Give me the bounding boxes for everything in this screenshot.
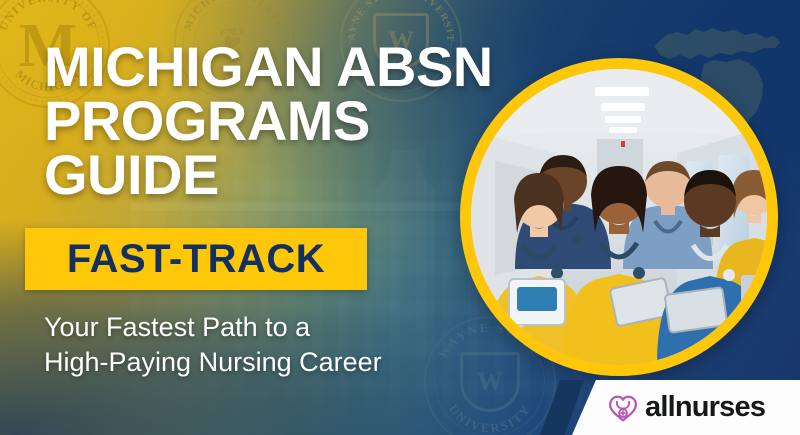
subtitle-line-2: High-Paying Nursing Career [44,345,484,380]
fast-track-badge: FAST-TRACK [25,228,367,290]
headline-line-1: MICHIGAN ABSN [44,40,514,94]
fast-track-badge-label: FAST-TRACK [67,239,325,279]
allnurses-logo-panel: allnurses [572,380,800,435]
allnurses-logo: allnurses [608,393,765,422]
headline-line-3: GUIDE [44,148,514,202]
nurses-group-photo [471,69,767,365]
subtitle-line-1: Your Fastest Path to a [44,310,484,345]
headline-line-2: PROGRAMS [44,94,514,148]
headline: MICHIGAN ABSN PROGRAMS GUIDE [44,40,514,201]
subtitle: Your Fastest Path to a High-Paying Nursi… [44,310,484,380]
absn-promo-banner: UNIVERSITY OF MICHIGAN M MICHIGAN STATE … [0,0,800,435]
heart-stethoscope-icon [608,394,638,422]
allnurses-wordmark: allnurses [645,393,765,422]
